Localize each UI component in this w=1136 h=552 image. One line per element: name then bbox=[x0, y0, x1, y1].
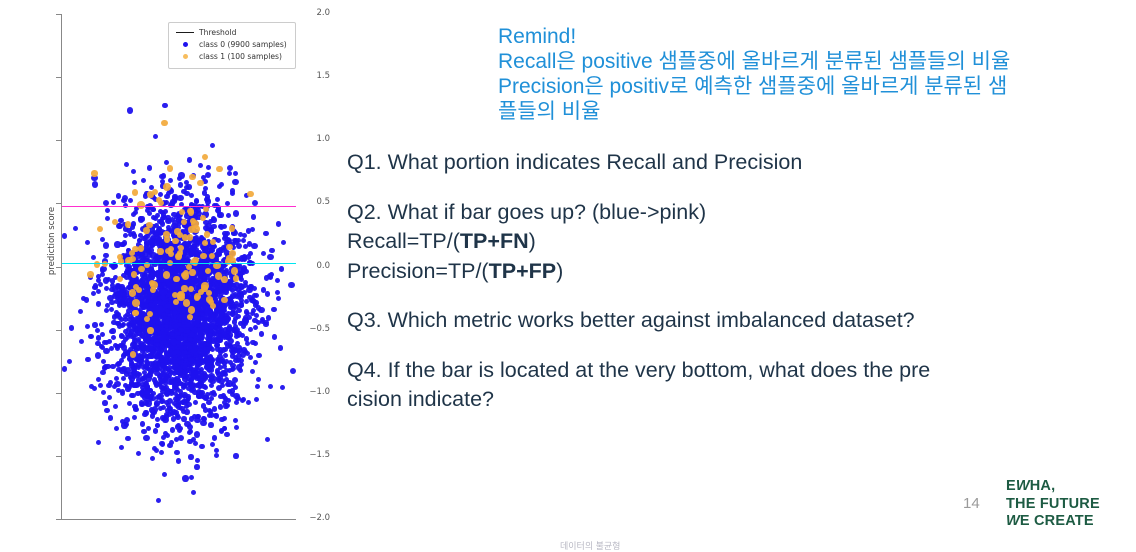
scatter-point bbox=[100, 370, 105, 375]
legend-label-class0: class 0 (9900 samples) bbox=[199, 40, 287, 49]
scatter-point bbox=[197, 383, 202, 388]
scatter-point bbox=[163, 209, 168, 214]
scatter-point bbox=[174, 363, 179, 368]
scatter-point bbox=[179, 345, 184, 350]
scatter-point bbox=[204, 231, 210, 237]
scatter-point bbox=[214, 448, 219, 453]
scatter-point bbox=[208, 219, 213, 224]
scatter-point bbox=[213, 413, 218, 418]
scatter-point bbox=[95, 341, 100, 346]
scatter-point bbox=[148, 370, 153, 375]
y-axis-title: prediction score bbox=[47, 181, 57, 301]
scatter-point bbox=[222, 416, 227, 421]
scatter-point bbox=[91, 255, 96, 260]
scatter-point bbox=[232, 319, 237, 324]
scatter-point bbox=[254, 300, 259, 305]
scatter-point bbox=[124, 162, 129, 167]
scatter-point bbox=[162, 386, 167, 391]
scatter-point bbox=[288, 282, 294, 288]
scatter-point bbox=[240, 398, 245, 403]
scatter-point bbox=[92, 322, 97, 327]
scatter-point bbox=[202, 240, 208, 246]
scatter-point bbox=[242, 257, 247, 262]
scatter-point bbox=[133, 343, 138, 348]
scatter-point bbox=[110, 364, 115, 369]
scatter-point bbox=[208, 422, 213, 427]
legend-label-class1: class 1 (100 samples) bbox=[199, 52, 282, 61]
scatter-point bbox=[119, 242, 124, 247]
scatter-point bbox=[62, 233, 67, 238]
scatter-point bbox=[254, 397, 259, 402]
scatter-point bbox=[203, 186, 208, 191]
scatter-point bbox=[230, 311, 235, 316]
scatter-point bbox=[159, 441, 164, 446]
scatter-point bbox=[109, 307, 114, 312]
spacer-1 bbox=[347, 178, 1127, 198]
scatter-point bbox=[178, 172, 184, 178]
chart-legend: Threshold class 0 (9900 samples) class 1… bbox=[168, 22, 296, 69]
scatter-point bbox=[233, 418, 238, 423]
scatter-point bbox=[272, 334, 277, 339]
scatter-point bbox=[154, 382, 159, 387]
scatter-point bbox=[224, 432, 229, 437]
scatter-point bbox=[96, 289, 101, 294]
precision-formula: Precision=TP/(TP+FP) bbox=[347, 257, 1127, 287]
scatter-point bbox=[132, 404, 137, 409]
scatter-point bbox=[160, 295, 165, 300]
scatter-point bbox=[177, 294, 185, 302]
remind-line-1: Remind! bbox=[498, 24, 1128, 49]
recall-denominator: TP+FN bbox=[460, 229, 529, 253]
precision-suffix: ) bbox=[556, 259, 563, 283]
scatter-point bbox=[73, 226, 78, 231]
scatter-point bbox=[136, 451, 141, 456]
scatter-point bbox=[155, 423, 160, 428]
logo-w-italic: W bbox=[1016, 478, 1030, 494]
scatter-point bbox=[159, 450, 164, 455]
scatter-point bbox=[105, 208, 110, 213]
scatter-point bbox=[221, 276, 227, 282]
scatter-point bbox=[207, 333, 212, 338]
scatter-point bbox=[275, 290, 280, 295]
scatter-point bbox=[111, 200, 116, 205]
y-axis-tick bbox=[56, 14, 61, 15]
scatter-point bbox=[239, 362, 244, 367]
ewha-logo: EWHA, THE FUTURE WE CREATE bbox=[1006, 478, 1100, 531]
scatter-point bbox=[201, 403, 206, 408]
scatter-point bbox=[67, 359, 72, 364]
scatter-point bbox=[169, 440, 174, 445]
scatter-point bbox=[131, 212, 136, 217]
scatter-point bbox=[201, 285, 207, 291]
scatter-point bbox=[195, 371, 201, 377]
scatter-point bbox=[107, 339, 112, 344]
scatter-point bbox=[109, 346, 114, 351]
scatter-point bbox=[165, 218, 171, 224]
scatter-point bbox=[247, 191, 253, 197]
scatter-point bbox=[174, 368, 180, 374]
scatter-point bbox=[98, 383, 103, 388]
logo-e-create: E CREATE bbox=[1020, 513, 1094, 529]
scatter-point bbox=[187, 439, 192, 444]
scatter-point bbox=[198, 342, 204, 348]
cyan-threshold-line bbox=[62, 263, 296, 265]
scatter-point bbox=[233, 327, 239, 333]
scatter-point bbox=[241, 265, 247, 271]
scatter-point bbox=[119, 284, 124, 289]
scatter-point bbox=[233, 275, 239, 281]
scatter-point bbox=[210, 347, 215, 352]
y-axis-tick bbox=[56, 330, 61, 331]
scatter-point bbox=[155, 270, 160, 275]
scatter-point bbox=[96, 301, 101, 306]
scatter-point bbox=[95, 328, 100, 333]
scatter-point bbox=[189, 269, 195, 275]
scatter-point bbox=[225, 382, 230, 387]
scatter-point bbox=[98, 282, 103, 287]
scatter-point bbox=[261, 287, 266, 292]
scatter-point bbox=[172, 238, 178, 244]
scatter-point bbox=[178, 426, 183, 431]
scatter-point bbox=[143, 363, 149, 369]
scatter-point bbox=[217, 184, 222, 189]
logo-ha: HA, bbox=[1030, 478, 1056, 494]
scatter-point bbox=[265, 437, 270, 442]
scatter-point bbox=[175, 253, 181, 259]
scatter-point bbox=[187, 157, 192, 162]
scatter-point bbox=[187, 234, 193, 240]
scatter-point bbox=[92, 181, 98, 187]
scatter-point bbox=[164, 160, 169, 165]
recall-prefix: Recall=TP/( bbox=[347, 229, 460, 253]
scatter-point bbox=[85, 357, 90, 362]
scatter-point bbox=[184, 404, 189, 409]
scatter-point bbox=[136, 361, 142, 367]
scatter-point bbox=[142, 273, 147, 278]
scatter-point bbox=[215, 368, 220, 373]
scatter-point bbox=[141, 429, 146, 434]
scatter-point bbox=[181, 285, 187, 291]
scatter-point bbox=[205, 172, 211, 178]
scatter-point bbox=[125, 436, 130, 441]
scatter-point bbox=[197, 180, 203, 186]
scatter-point bbox=[91, 170, 97, 176]
scatter-point bbox=[126, 228, 131, 233]
scatter-point bbox=[255, 384, 260, 389]
scatter-point bbox=[269, 248, 274, 253]
scatter-point bbox=[152, 189, 158, 195]
pink-threshold-line bbox=[62, 206, 296, 208]
scatter-point bbox=[189, 475, 194, 480]
precision-prefix: Precision=TP/( bbox=[347, 259, 489, 283]
scatter-point bbox=[238, 368, 243, 373]
scatter-point bbox=[279, 266, 284, 271]
logo-e: E bbox=[1006, 478, 1016, 494]
scatter-point bbox=[167, 165, 173, 171]
class0-dot-icon bbox=[174, 42, 196, 47]
scatter-point bbox=[179, 209, 185, 215]
scatter-point bbox=[226, 316, 231, 321]
scatter-point bbox=[140, 216, 145, 221]
scatter-point bbox=[198, 163, 203, 168]
scatter-point bbox=[143, 227, 149, 233]
scatter-point bbox=[290, 368, 296, 374]
scatter-point bbox=[177, 232, 183, 238]
scatter-point bbox=[187, 208, 193, 214]
scatter-point bbox=[247, 295, 252, 300]
scatter-point bbox=[108, 415, 113, 420]
scatter-point bbox=[62, 366, 67, 371]
recall-suffix: ) bbox=[529, 229, 536, 253]
scatter-point bbox=[242, 233, 247, 238]
spacer-3 bbox=[347, 336, 1127, 356]
scatter-point bbox=[233, 171, 238, 176]
scatter-point bbox=[129, 289, 137, 297]
scatter-point bbox=[114, 376, 119, 381]
scatter-point bbox=[241, 238, 246, 243]
scatter-point bbox=[220, 383, 225, 388]
spacer-2 bbox=[347, 286, 1127, 306]
scatter-point bbox=[187, 430, 192, 435]
question-4-line-2: cision indicate? bbox=[347, 385, 1127, 415]
scatter-point bbox=[253, 325, 258, 330]
scatter-point bbox=[95, 352, 101, 358]
scatter-point bbox=[156, 498, 161, 503]
scatter-point bbox=[230, 188, 235, 193]
y-axis-tick bbox=[56, 140, 61, 141]
scatter-point bbox=[198, 267, 203, 272]
scatter-point bbox=[110, 328, 115, 333]
scatter-point bbox=[132, 299, 140, 307]
scatter-point bbox=[227, 171, 232, 176]
scatter-point bbox=[210, 442, 215, 447]
scatter-point bbox=[116, 193, 121, 198]
scatter-point bbox=[100, 268, 105, 273]
scatter-point bbox=[276, 221, 281, 226]
scatter-point bbox=[250, 369, 255, 374]
scatter-point bbox=[153, 134, 158, 139]
y-axis-tick bbox=[56, 393, 61, 394]
question-3: Q3. Which metric works better against im… bbox=[347, 306, 1127, 336]
scatter-point bbox=[206, 338, 211, 343]
scatter-point bbox=[178, 182, 183, 187]
scatter-point bbox=[170, 427, 175, 432]
scatter-point bbox=[221, 332, 226, 337]
scatter-point bbox=[150, 456, 155, 461]
scatter-point bbox=[146, 294, 151, 299]
scatter-point bbox=[172, 310, 177, 315]
scatter-point bbox=[123, 314, 128, 319]
scatter-point bbox=[189, 416, 194, 421]
y-axis-tick bbox=[56, 456, 61, 457]
scatter-point bbox=[189, 174, 195, 180]
scatter-point bbox=[218, 347, 223, 352]
scatter-point bbox=[119, 445, 124, 450]
scatter-point bbox=[117, 276, 123, 282]
scatter-point bbox=[115, 346, 120, 351]
scatter-point bbox=[216, 238, 221, 243]
scatter-point bbox=[147, 244, 152, 249]
scatter-point bbox=[163, 431, 168, 436]
scatter-point bbox=[230, 392, 235, 397]
scatter-point bbox=[233, 210, 239, 216]
scatter-point bbox=[256, 377, 261, 382]
scatter-point bbox=[242, 290, 247, 295]
scatter-point bbox=[141, 178, 146, 183]
scatter-point bbox=[167, 398, 173, 404]
scatter-point bbox=[230, 353, 235, 358]
scatter-point bbox=[129, 256, 135, 262]
scatter-point bbox=[69, 325, 74, 330]
scatter-point bbox=[99, 322, 104, 327]
scatter-point bbox=[226, 213, 231, 218]
logo-w2-italic: W bbox=[1006, 513, 1020, 529]
scatter-point bbox=[155, 417, 160, 422]
scatter-point bbox=[132, 180, 137, 185]
scatter-point bbox=[144, 410, 149, 415]
scatter-point bbox=[138, 245, 144, 251]
scatter-point bbox=[205, 194, 210, 199]
scatter-point bbox=[163, 271, 171, 279]
scatter-point bbox=[89, 334, 94, 339]
scatter-point bbox=[189, 332, 194, 337]
question-1: Q1. What portion indicates Recall and Pr… bbox=[347, 148, 1127, 178]
scatter-point bbox=[221, 297, 227, 303]
scatter-point bbox=[124, 422, 129, 427]
scatter-point bbox=[241, 347, 246, 352]
class1-dot-icon bbox=[174, 54, 196, 59]
scatter-point bbox=[123, 233, 128, 238]
scatter-point bbox=[259, 331, 264, 336]
scatter-point bbox=[194, 464, 199, 469]
scatter-point bbox=[256, 320, 261, 325]
scatter-point bbox=[132, 415, 137, 420]
scatter-point bbox=[193, 441, 198, 446]
scatter-point bbox=[153, 428, 158, 433]
legend-item-threshold: Threshold bbox=[174, 27, 290, 38]
scatter-point bbox=[263, 231, 268, 236]
scatter-point bbox=[188, 306, 196, 314]
scatter-point bbox=[119, 358, 124, 363]
scatter-chart: prediction score 2.01.51.00.50.0−0.5−1.0… bbox=[0, 0, 330, 549]
scatter-point bbox=[192, 390, 197, 395]
scatter-point bbox=[211, 390, 216, 395]
scatter-point bbox=[216, 376, 221, 381]
scatter-point bbox=[131, 271, 137, 277]
remind-line-4: 플들의 비율 bbox=[498, 99, 1128, 124]
scatter-point bbox=[153, 296, 158, 301]
precision-denominator: TP+FP bbox=[489, 259, 557, 283]
scatter-point bbox=[271, 307, 276, 312]
scatter-point bbox=[195, 458, 200, 463]
scatter-point bbox=[239, 301, 244, 306]
scatter-point bbox=[210, 143, 215, 148]
scatter-point bbox=[234, 425, 239, 430]
scatter-point bbox=[248, 327, 253, 332]
scatter-point bbox=[179, 327, 184, 332]
scatter-point bbox=[111, 335, 116, 340]
scatter-point bbox=[105, 364, 110, 369]
scatter-point bbox=[209, 375, 214, 380]
scatter-point bbox=[222, 236, 227, 241]
scatter-point bbox=[120, 391, 125, 396]
scatter-point bbox=[113, 404, 118, 409]
scatter-point bbox=[203, 225, 209, 231]
scatter-point bbox=[182, 272, 190, 280]
scatter-point bbox=[243, 244, 248, 249]
scatter-point bbox=[160, 398, 165, 403]
legend-item-class0: class 0 (9900 samples) bbox=[174, 39, 290, 50]
scatter-point bbox=[181, 416, 186, 421]
scatter-point bbox=[130, 351, 136, 357]
scatter-point bbox=[105, 216, 110, 221]
scatter-point bbox=[178, 314, 183, 319]
scatter-point bbox=[181, 308, 186, 313]
scatter-point bbox=[150, 238, 155, 243]
scatter-point bbox=[81, 296, 86, 301]
scatter-point bbox=[250, 227, 255, 232]
scatter-point bbox=[140, 421, 145, 426]
scatter-point bbox=[160, 415, 165, 420]
scatter-point bbox=[212, 435, 217, 440]
scatter-point bbox=[253, 360, 258, 365]
scatter-point bbox=[147, 327, 153, 333]
scatter-point bbox=[132, 310, 138, 316]
scatter-point bbox=[206, 400, 211, 405]
scatter-point bbox=[222, 400, 227, 405]
scatter-point bbox=[278, 345, 283, 350]
scatter-point bbox=[275, 278, 280, 283]
scatter-point bbox=[166, 316, 171, 321]
legend-label-threshold: Threshold bbox=[199, 28, 236, 37]
scatter-point bbox=[247, 315, 252, 320]
scatter-point bbox=[233, 385, 238, 390]
scatter-point bbox=[258, 307, 264, 313]
scatter-point bbox=[146, 249, 151, 254]
scatter-point bbox=[280, 385, 285, 390]
scatter-point bbox=[122, 292, 127, 297]
scatter-point bbox=[128, 198, 133, 203]
scatter-point bbox=[102, 400, 107, 405]
scatter-point bbox=[97, 226, 103, 232]
scatter-point bbox=[161, 282, 166, 287]
scatter-point bbox=[281, 240, 286, 245]
scatter-point bbox=[119, 367, 125, 373]
scatter-point bbox=[268, 384, 273, 389]
scatter-point bbox=[144, 234, 149, 239]
scatter-point bbox=[261, 251, 266, 256]
scatter-point bbox=[203, 395, 208, 400]
scatter-point bbox=[246, 400, 251, 405]
scatter-point bbox=[127, 107, 133, 113]
logo-line-1: EWHA, bbox=[1006, 478, 1100, 496]
scatter-point bbox=[177, 195, 183, 201]
scatter-point bbox=[176, 458, 181, 463]
scatter-point bbox=[182, 365, 187, 370]
scatter-point bbox=[188, 454, 193, 459]
question-2: Q2. What if bar goes up? (blue->pink) bbox=[347, 198, 1127, 228]
scatter-point bbox=[157, 248, 163, 254]
scatter-point bbox=[79, 339, 84, 344]
scatter-point bbox=[175, 268, 180, 273]
scatter-point bbox=[251, 243, 257, 249]
questions-block: Q1. What portion indicates Recall and Pr… bbox=[347, 148, 1127, 415]
scatter-point bbox=[233, 286, 238, 291]
scatter-point bbox=[182, 383, 187, 388]
scatter-point bbox=[164, 236, 170, 242]
scatter-point bbox=[175, 281, 180, 286]
scatter-point bbox=[195, 414, 200, 419]
